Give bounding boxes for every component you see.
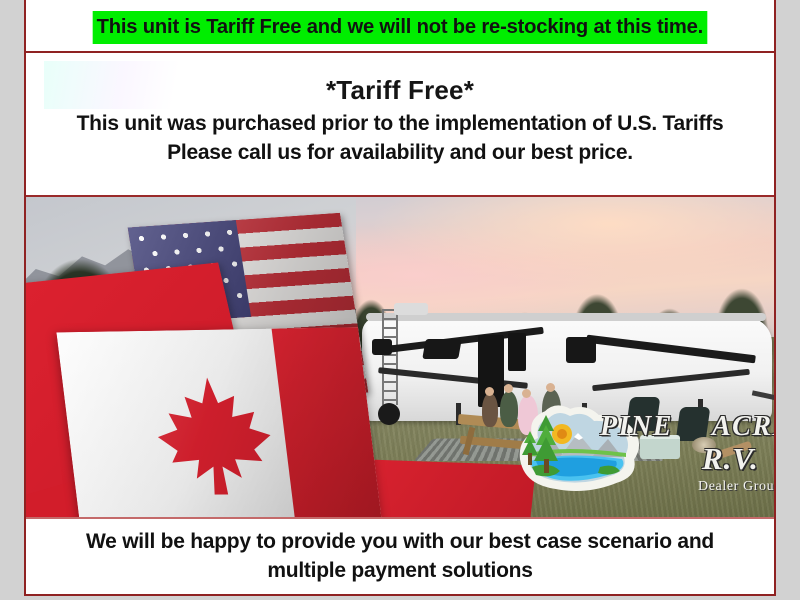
headline-line-1: This unit was purchased prior to the imp… <box>77 110 724 139</box>
tariff-free-ad-frame: This unit is Tariff Free and we will not… <box>24 0 776 596</box>
footer-block: We will be happy to provide you with our… <box>26 517 774 594</box>
tariff-free-banner-text: This unit is Tariff Free and we will not… <box>93 11 707 44</box>
logo-text-rv: R.V. <box>702 441 759 477</box>
rv-ladder <box>382 309 398 405</box>
logo-tagline: Dealer Group <box>698 479 774 495</box>
banner-row: This unit is Tariff Free and we will not… <box>26 0 774 53</box>
footer-line-1: We will be happy to provide you with our… <box>86 528 714 557</box>
rv-ac-unit <box>394 303 428 315</box>
rv-storage-door <box>508 333 526 371</box>
headline-block: *Tariff Free* This unit was purchased pr… <box>26 53 774 197</box>
camper-head <box>546 383 555 392</box>
pine-acres-rv-logo: PINE ACRES R.V. Dealer Group <box>516 397 774 509</box>
footer-line-2: multiple payment solutions <box>267 557 532 586</box>
rv-window <box>422 339 462 359</box>
headline-watermark-artifact <box>44 61 184 109</box>
headline-line-2: Please call us for availability and our … <box>167 139 633 168</box>
headline-title: *Tariff Free* <box>326 75 474 106</box>
logo-text-pine: PINE <box>600 411 673 443</box>
rv-wheel <box>378 403 400 425</box>
canadian-flag <box>56 327 383 517</box>
canadian-flag-shading <box>56 327 383 517</box>
rv-window <box>372 339 392 355</box>
rv-window <box>566 337 596 363</box>
camper-head <box>485 387 494 396</box>
rv-campsite-photo: PINE ACRES R.V. Dealer Group <box>26 197 774 517</box>
logo-text-acres: ACRES <box>712 411 774 443</box>
camper-head <box>504 384 513 393</box>
camper-person <box>482 393 498 427</box>
